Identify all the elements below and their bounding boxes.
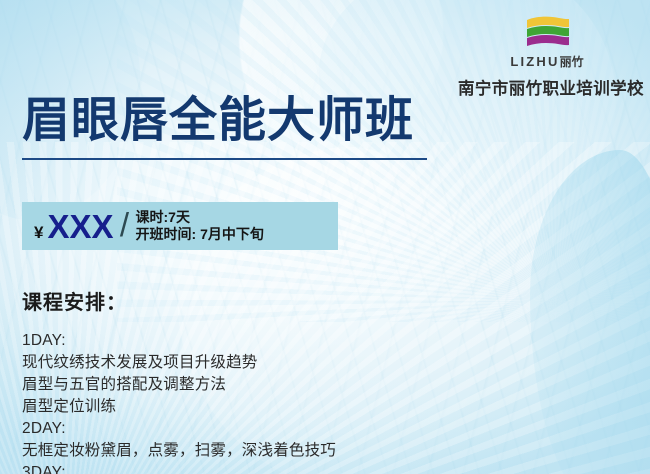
schedule-list: 1DAY: 现代纹绣技术发展及项目升级趋势 眉型与五官的搭配及调整方法 眉型定位…: [22, 330, 336, 474]
currency-symbol: ¥: [34, 223, 43, 243]
price-value: XXX: [47, 210, 113, 243]
price-divider: /: [114, 206, 136, 244]
schedule-line: 现代纹绣技术发展及项目升级趋势: [22, 352, 336, 374]
schedule-line: 眉型与五官的搭配及调整方法: [22, 374, 336, 396]
schedule-line: 3DAY:: [22, 462, 336, 474]
brand-block: LIZHU丽竹 南宁市丽竹职业培训学校: [458, 16, 636, 99]
page-title: 眉眼唇全能大师班: [22, 96, 414, 146]
price-details: 课时:7天 开班时间: 7月中下旬: [136, 209, 264, 243]
title-divider: [22, 158, 427, 160]
brand-wordmark: LIZHU丽竹: [458, 55, 636, 69]
course-start-date: 开班时间: 7月中下旬: [136, 226, 264, 243]
schedule-line: 2DAY:: [22, 418, 336, 440]
three-wave-bars-logo-icon: [519, 16, 575, 52]
brand-wordmark-latin: LIZHU: [510, 54, 559, 69]
schedule-line: 无框定妆粉黛眉，点雾，扫雾，深浅着色技巧: [22, 440, 336, 462]
price-left: ¥ XXX: [22, 210, 114, 243]
schedule-line: 眉型定位训练: [22, 396, 336, 418]
course-duration: 课时:7天: [136, 209, 264, 226]
price-band: ¥ XXX / 课时:7天 开班时间: 7月中下旬: [22, 202, 338, 250]
page-title-wrap: 眉眼唇全能大师班: [22, 96, 414, 146]
schedule-line: 1DAY:: [22, 330, 336, 352]
schedule-heading: 课程安排：: [22, 286, 127, 315]
school-name: 南宁市丽竹职业培训学校: [458, 75, 636, 99]
brand-wordmark-cn: 丽竹: [560, 55, 584, 69]
course-poster: LIZHU丽竹 南宁市丽竹职业培训学校 眉眼唇全能大师班 ¥ XXX / 课时:…: [0, 0, 650, 474]
